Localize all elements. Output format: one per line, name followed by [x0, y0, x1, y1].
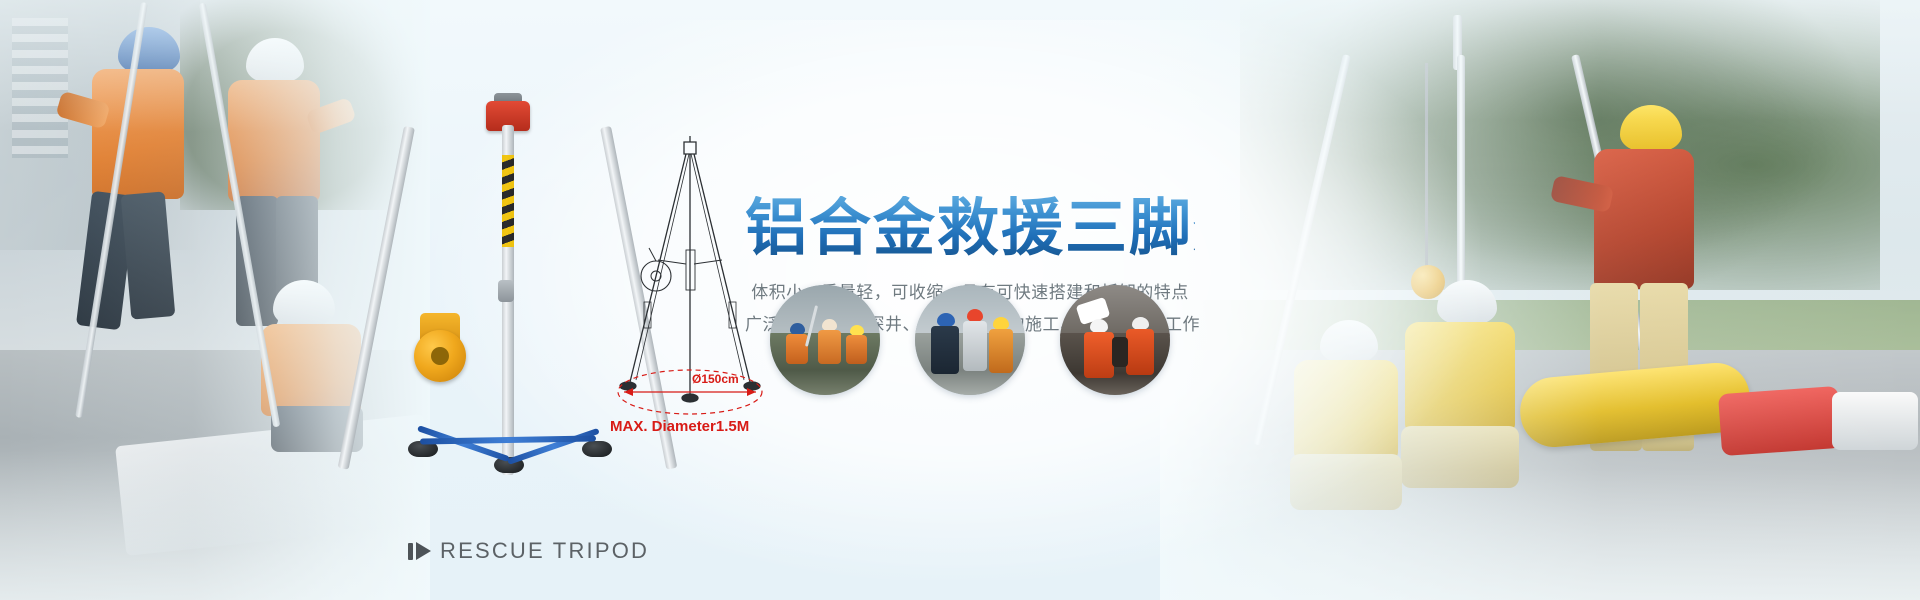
product-banner: Ø150cm MAX. Diameter1.5M 铝合金救援三脚架 体积小，重量…: [0, 0, 1920, 600]
thumbnail-strip: [770, 285, 1170, 395]
product-tripod-photo: [390, 85, 620, 465]
thumb-figure-1: [786, 334, 808, 364]
thumb-figure-1: [931, 326, 959, 374]
play-icon-bar: [408, 543, 413, 560]
product-caption: RESCUE TRIPOD: [408, 538, 649, 564]
right-vertical-fade: [1160, 0, 1920, 600]
diameter-label: Ø150cm: [692, 372, 739, 386]
left-vertical-fade: [0, 0, 430, 600]
tripod-foot-right: [582, 441, 612, 457]
thumbnail-1[interactable]: [770, 285, 880, 395]
right-photo-collage: [1160, 0, 1920, 600]
thumbnail-3[interactable]: [1060, 285, 1170, 395]
thumb-figure-3: [989, 329, 1013, 373]
tripod-pulley: [498, 280, 514, 302]
thumb-helmet-1: [937, 313, 955, 327]
thumb-figure-2: [818, 330, 841, 364]
play-icon-triangle: [416, 542, 431, 560]
thumb-figure-2: [1126, 329, 1154, 375]
thumbnail-2[interactable]: [915, 285, 1025, 395]
max-diameter-label: MAX. Diameter1.5M: [610, 418, 749, 435]
thumb-helmet-1: [1090, 319, 1108, 333]
page-title: 铝合金救援三脚架: [745, 196, 1195, 261]
play-icon: [408, 542, 431, 560]
caption-text: RESCUE TRIPOD: [440, 538, 649, 564]
left-photo-collage: [0, 0, 430, 600]
thumb-figure-1: [1084, 332, 1114, 378]
hazard-stripe: [502, 155, 514, 247]
thumb-manhole: [1112, 337, 1128, 367]
thumb-figure-3: [846, 335, 867, 364]
thumb-figure-2: [963, 321, 987, 371]
winch-drum: [414, 330, 466, 382]
